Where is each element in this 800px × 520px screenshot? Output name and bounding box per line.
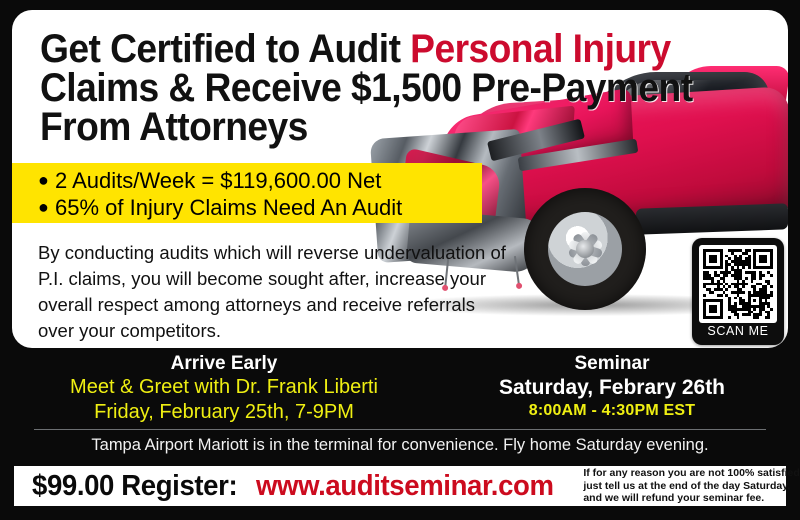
qr-modules bbox=[703, 249, 773, 319]
guarantee-line-1: If for any reason you are not 100% satis… bbox=[583, 467, 800, 480]
guarantee-line-2: just tell us at the end of the day Satur… bbox=[583, 480, 800, 493]
headline-red-part: Personal Injury bbox=[410, 27, 670, 71]
bullet-item: ● 2 Audits/Week = $119,600.00 Net bbox=[38, 167, 478, 194]
seminar-title: Seminar bbox=[440, 352, 784, 375]
headline-black-part: Get Certified to Audit bbox=[40, 27, 410, 71]
meet-greet-block: Arrive Early Meet & Greet with Dr. Frank… bbox=[14, 350, 434, 425]
guarantee-line-3: and we will refund your seminar fee. bbox=[583, 492, 800, 505]
rim-spoke bbox=[567, 239, 602, 258]
horizontal-divider bbox=[34, 429, 766, 430]
advertisement-flyer: Get Certified to Audit Personal Injury C… bbox=[0, 0, 800, 520]
bullet-text: 2 Audits/Week = $119,600.00 Net bbox=[55, 168, 381, 193]
seminar-date: Saturday, Febrary 26th bbox=[440, 375, 784, 400]
bullet-dot-icon: ● bbox=[38, 197, 49, 217]
rim-spoke bbox=[571, 233, 598, 266]
price-register-label: $99.00 Register: bbox=[32, 470, 237, 503]
bullet-item: ● 65% of Injury Claims Need An Audit bbox=[38, 194, 478, 221]
main-white-panel: Get Certified to Audit Personal Injury C… bbox=[12, 10, 788, 348]
meet-greet-host: Meet & Greet with Dr. Frank Liberti bbox=[14, 375, 434, 400]
qr-code-badge[interactable]: SCAN ME bbox=[692, 238, 784, 345]
car-side-sill bbox=[636, 203, 788, 234]
meet-greet-title: Arrive Early bbox=[14, 352, 434, 375]
bullet-list: ● 2 Audits/Week = $119,600.00 Net ● 65% … bbox=[38, 167, 478, 221]
bullet-text: 65% of Injury Claims Need An Audit bbox=[55, 195, 402, 220]
rim-spoke bbox=[581, 232, 590, 266]
headline-line-2: Claims & Receive $1,500 Pre-Payment bbox=[40, 69, 728, 108]
rim-hub bbox=[576, 240, 594, 258]
body-paragraph: By conducting audits which will reverse … bbox=[38, 240, 508, 344]
headline-line-1: Get Certified to Audit Personal Injury bbox=[40, 30, 728, 69]
hanging-wire-b bbox=[514, 256, 520, 286]
seminar-time: 8:00AM - 4:30PM EST bbox=[440, 400, 784, 422]
registration-url-link[interactable]: www.auditseminar.com bbox=[256, 470, 554, 503]
registration-bar: $99.00 Register: www.auditseminar.com If… bbox=[14, 466, 786, 506]
event-details-section: Arrive Early Meet & Greet with Dr. Frank… bbox=[0, 350, 800, 430]
wheel-rim bbox=[548, 212, 622, 286]
guarantee-text: If for any reason you are not 100% satis… bbox=[583, 467, 800, 505]
rim-spoke bbox=[571, 233, 598, 266]
bullet-dot-icon: ● bbox=[38, 170, 49, 190]
venue-note: Tampa Airport Mariott is in the terminal… bbox=[0, 436, 800, 455]
scan-me-label: SCAN ME bbox=[692, 324, 784, 338]
rim-spoke bbox=[567, 239, 602, 258]
meet-greet-date: Friday, February 25th, 7-9PM bbox=[14, 400, 434, 425]
front-tire bbox=[524, 188, 646, 310]
headline: Get Certified to Audit Personal Injury C… bbox=[40, 30, 728, 148]
seminar-block: Seminar Saturday, Febrary 26th 8:00AM - … bbox=[440, 350, 784, 422]
headline-line-3: From Attorneys bbox=[40, 108, 728, 147]
qr-code-image[interactable] bbox=[699, 245, 777, 323]
